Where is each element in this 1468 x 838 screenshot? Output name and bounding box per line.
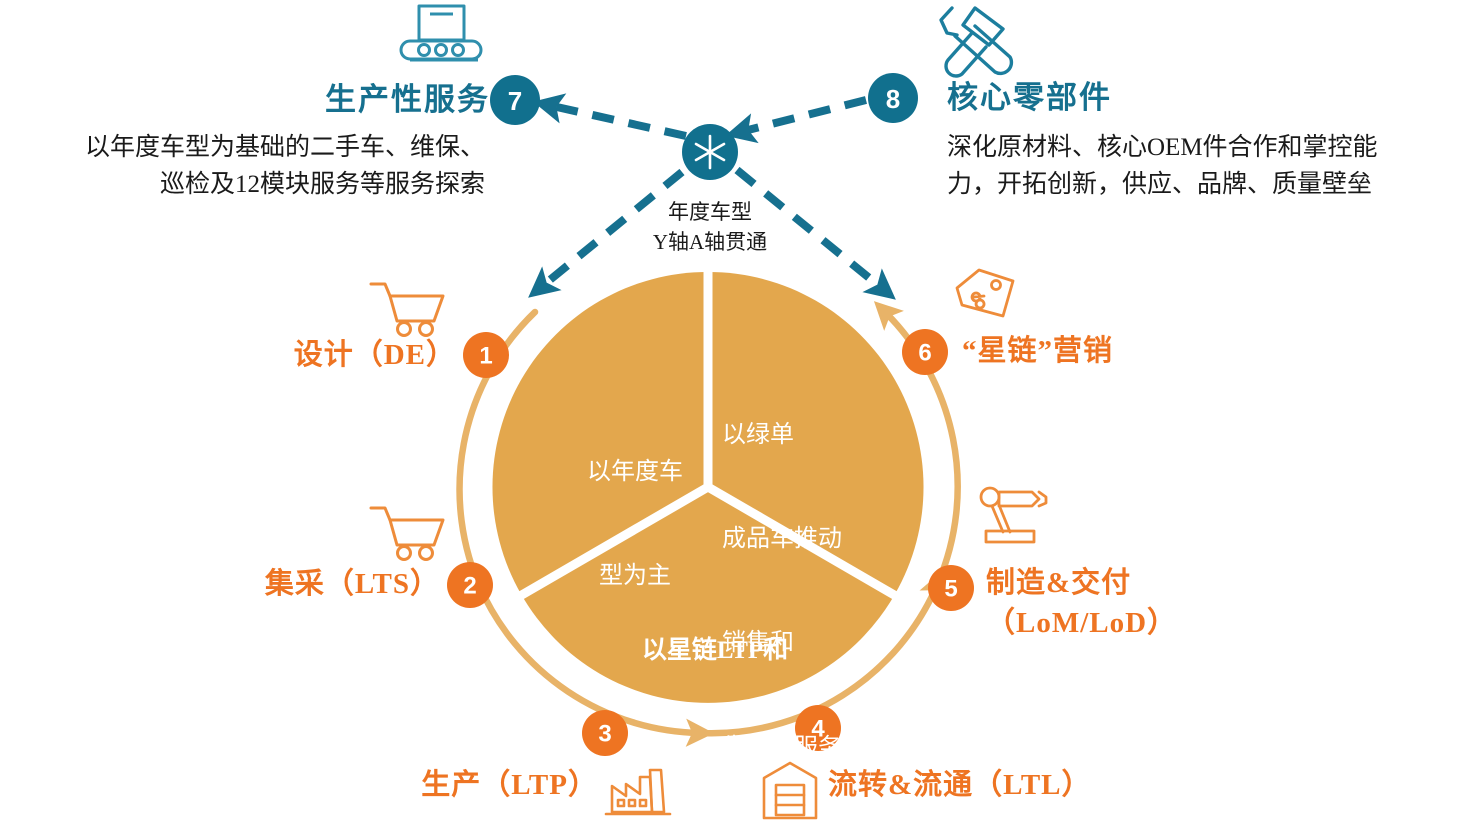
- callout-7-body-line1: 以年度车型为基础的二手车、维保、: [8, 130, 485, 166]
- wedge-left-line-1: 以年度车: [540, 455, 730, 490]
- stage-5-label-line1[interactable]: 制造&交付: [986, 565, 1131, 603]
- badge-1[interactable]: 1: [463, 332, 509, 378]
- wedge-right-line-2: 成品车推动: [722, 522, 932, 557]
- badge-1-number: 1: [479, 343, 492, 370]
- price-tag-icon: [957, 270, 1013, 316]
- hub-caption-line1: 年度车型: [610, 198, 810, 226]
- robot-arm-icon: [981, 488, 1046, 542]
- badge-5-number: 5: [944, 576, 957, 603]
- conveyor-belt-icon: [401, 6, 481, 60]
- badge-7[interactable]: 7: [490, 75, 540, 125]
- shopping-cart-icon: [371, 508, 443, 560]
- callout-8-body-line1: 深化原材料、核心OEM件合作和掌控能: [947, 130, 1462, 166]
- stage-5-label-line2[interactable]: （LoM/LoD）: [986, 605, 1177, 643]
- hub-caption-line2: Y轴A轴贯通: [610, 228, 810, 256]
- diagram-canvas: 7 8 1 2 3 4 5: [0, 0, 1468, 838]
- shopping-cart-icon: [371, 284, 443, 336]
- badge-8-number: 8: [886, 84, 900, 114]
- wedge-bottom-text: 以星链LTP和 LoM为主: [590, 560, 840, 838]
- stage-2-label[interactable]: 集采（LTS）: [50, 566, 440, 604]
- badge-8[interactable]: 8: [868, 73, 918, 123]
- badge-7-number: 7: [508, 86, 522, 116]
- stage-3-label[interactable]: 生产（LTP）: [258, 767, 598, 805]
- badge-2-number: 2: [463, 573, 476, 600]
- wedge-right-line-1: 以绿单: [722, 418, 932, 453]
- hub-node[interactable]: [682, 124, 738, 180]
- badge-2[interactable]: 2: [447, 562, 493, 608]
- dash-8-to-hub: [740, 100, 866, 132]
- stage-1-label[interactable]: 设计（DE）: [66, 337, 456, 375]
- callout-7-title: 生产性服务: [290, 80, 490, 120]
- callout-8-body-line2: 力，开拓创新，供应、品牌、质量壁垒: [947, 167, 1462, 203]
- callout-8-title: 核心零部件: [947, 78, 1112, 118]
- callout-7-body-line2: 巡检及12模块服务等服务探索: [8, 167, 485, 203]
- wedge-bottom-line-1: 以星链LTP和: [590, 633, 840, 669]
- dash-hub-to-7: [548, 105, 686, 136]
- stage-6-label[interactable]: “星链”营销: [962, 333, 1113, 371]
- hammer-wrench-icon: [941, 8, 1011, 76]
- badge-5[interactable]: 5: [928, 565, 974, 611]
- wedge-bottom-line-2: LoM为主: [590, 741, 840, 777]
